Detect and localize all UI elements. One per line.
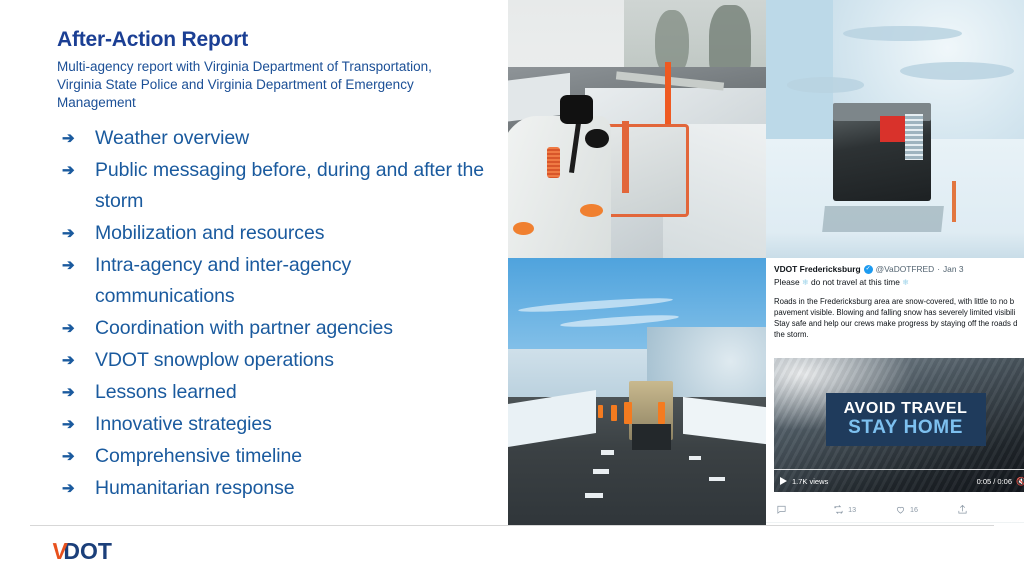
logo-v-mark: V (51, 538, 67, 565)
photo-snowplow-rear (766, 0, 1024, 258)
video-right-controls: 0:05 / 0:06 🔇 (977, 477, 1024, 486)
video-overlay-line1: AVOID TRAVEL (844, 401, 968, 418)
list-item: ➔ Comprehensive timeline (57, 441, 490, 472)
list-item: ➔ Intra-agency and inter-agency communic… (57, 250, 490, 312)
list-item: ➔ Humanitarian response (57, 473, 490, 504)
video-view-count: 1.7K views (792, 477, 828, 486)
arrow-icon: ➔ (57, 123, 95, 154)
like-count: 16 (910, 505, 918, 514)
arrow-icon: ➔ (57, 313, 95, 344)
list-item-label: Lessons learned (95, 377, 237, 408)
mute-icon[interactable]: 🔇 (1016, 477, 1024, 486)
arrow-icon: ➔ (57, 409, 95, 440)
list-item-label: Intra-agency and inter-agency communicat… (95, 250, 490, 312)
photo-plow-convoy (508, 258, 766, 525)
logo-dot-text: DOT (63, 538, 112, 565)
tweet-action-bar: 13 16 (766, 504, 1024, 515)
verified-badge-icon: ✓ (864, 265, 873, 274)
list-item-label: Mobilization and resources (95, 218, 324, 249)
like-button[interactable]: 16 (895, 504, 957, 515)
tweet-video-player[interactable]: AVOID TRAVEL STAY HOME 1.7K views 0:05 /… (774, 358, 1024, 492)
tweet-date[interactable]: Jan 3 (943, 264, 964, 274)
retweet-count: 13 (848, 505, 856, 514)
arrow-icon: ➔ (57, 155, 95, 186)
vdot-logo: V DOT (52, 538, 112, 565)
media-grid: VDOT Fredericksburg ✓ @VaDOTFRED · Jan 3… (508, 0, 1024, 525)
video-controls: 1.7K views 0:05 / 0:06 🔇 (774, 472, 1024, 490)
list-item: ➔ Public messaging before, during and af… (57, 155, 490, 217)
arrow-icon: ➔ (57, 218, 95, 249)
tweet-headline-mid: do not travel at this time (811, 277, 900, 287)
reply-button[interactable] (776, 504, 833, 515)
list-item: ➔ Weather overview (57, 123, 490, 154)
tweet-headline: Please ❄ do not travel at this time ❄ (766, 274, 1024, 287)
play-icon[interactable] (780, 477, 787, 485)
tweet-headline-pre: Please (774, 277, 800, 287)
list-item: ➔ Innovative strategies (57, 409, 490, 440)
page-subtitle: Multi-agency report with Virginia Depart… (57, 58, 447, 112)
list-item: ➔ VDOT snowplow operations (57, 345, 490, 376)
video-timestamp: 0:05 / 0:06 (977, 477, 1012, 486)
video-overlay-line2: STAY HOME (848, 418, 963, 438)
tweet-body-text: Roads in the Fredericksburg area are sno… (766, 287, 1024, 340)
arrow-icon: ➔ (57, 473, 95, 504)
retweet-button[interactable]: 13 (833, 504, 895, 515)
video-progress-bar[interactable] (774, 469, 1024, 471)
snowflake-icon: ❄ (802, 278, 809, 287)
list-item: ➔ Coordination with partner agencies (57, 313, 490, 344)
list-item-label: VDOT snowplow operations (95, 345, 334, 376)
page-title: After-Action Report (57, 28, 490, 52)
share-button[interactable] (957, 504, 1014, 515)
list-item-label: Humanitarian response (95, 473, 295, 504)
list-item: ➔ Mobilization and resources (57, 218, 490, 249)
tweet-header: VDOT Fredericksburg ✓ @VaDOTFRED · Jan 3 (766, 264, 1024, 274)
slide: After-Action Report Multi-agency report … (0, 0, 1024, 576)
tweet-divider (766, 522, 1024, 523)
tweet-date-separator: · (937, 264, 940, 274)
arrow-icon: ➔ (57, 377, 95, 408)
list-item-label: Weather overview (95, 123, 249, 154)
tweet-card[interactable]: VDOT Fredericksburg ✓ @VaDOTFRED · Jan 3… (766, 258, 1024, 525)
list-item-label: Coordination with partner agencies (95, 313, 393, 344)
snowflake-icon: ❄ (902, 278, 909, 287)
list-item-label: Public messaging before, during and afte… (95, 155, 490, 217)
photo-snowplow-pov (508, 0, 766, 258)
list-item-label: Innovative strategies (95, 409, 272, 440)
list-item-label: Comprehensive timeline (95, 441, 302, 472)
tweet-handle[interactable]: @VaDOTFRED (876, 264, 935, 274)
footer-divider (30, 525, 994, 526)
agenda-list: ➔ Weather overview ➔ Public messaging be… (57, 123, 490, 504)
tweet-account-name[interactable]: VDOT Fredericksburg (774, 264, 861, 274)
slide-footer: V DOT Virginia Department of Transportat… (0, 525, 1024, 576)
video-overlay-card: AVOID TRAVEL STAY HOME (826, 393, 986, 447)
arrow-icon: ➔ (57, 250, 95, 281)
list-item: ➔ Lessons learned (57, 377, 490, 408)
arrow-icon: ➔ (57, 345, 95, 376)
content-panel: After-Action Report Multi-agency report … (0, 0, 508, 525)
arrow-icon: ➔ (57, 441, 95, 472)
